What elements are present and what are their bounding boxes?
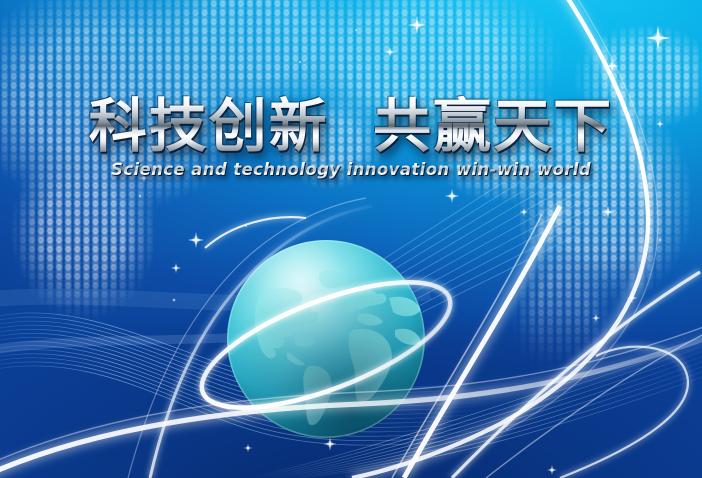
sparkle-stars xyxy=(0,0,702,478)
poster-canvas: 科技创新 共赢天下 Science and technology innovat… xyxy=(0,0,702,478)
